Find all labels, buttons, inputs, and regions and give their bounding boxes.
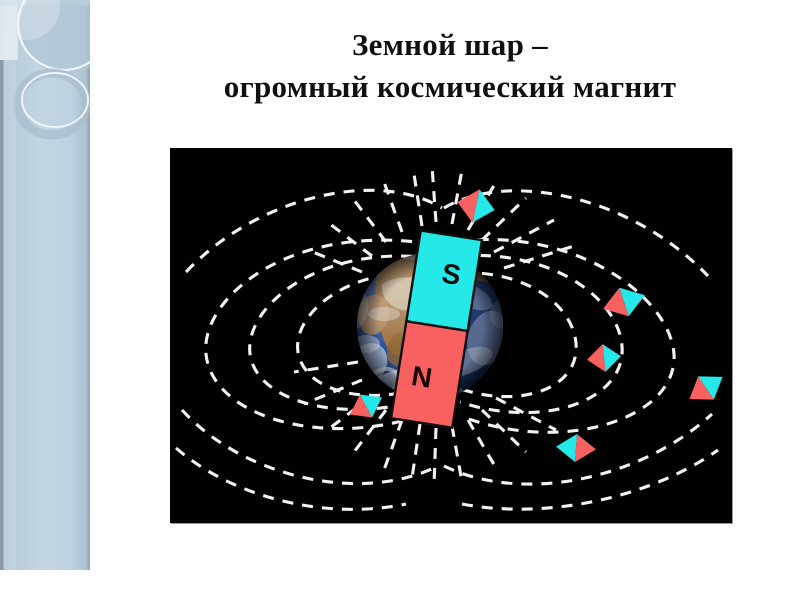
field-line-radial-bottom-2 (434, 428, 436, 486)
page-title-line-1: Земной шар – (110, 24, 790, 66)
earth-magnet-svg: S N (170, 148, 732, 523)
earth-magnet-figure: S N (170, 148, 732, 523)
ring-shadow (18, 73, 86, 135)
page-title: Земной шар – огромный космический магнит (110, 24, 790, 108)
band-sheen (4, 0, 16, 570)
page-title-line-2: огромный космический магнит (110, 66, 790, 108)
decorative-left-band (0, 0, 90, 570)
small-circle-outline (22, 73, 88, 127)
band-ornaments (0, 0, 90, 570)
